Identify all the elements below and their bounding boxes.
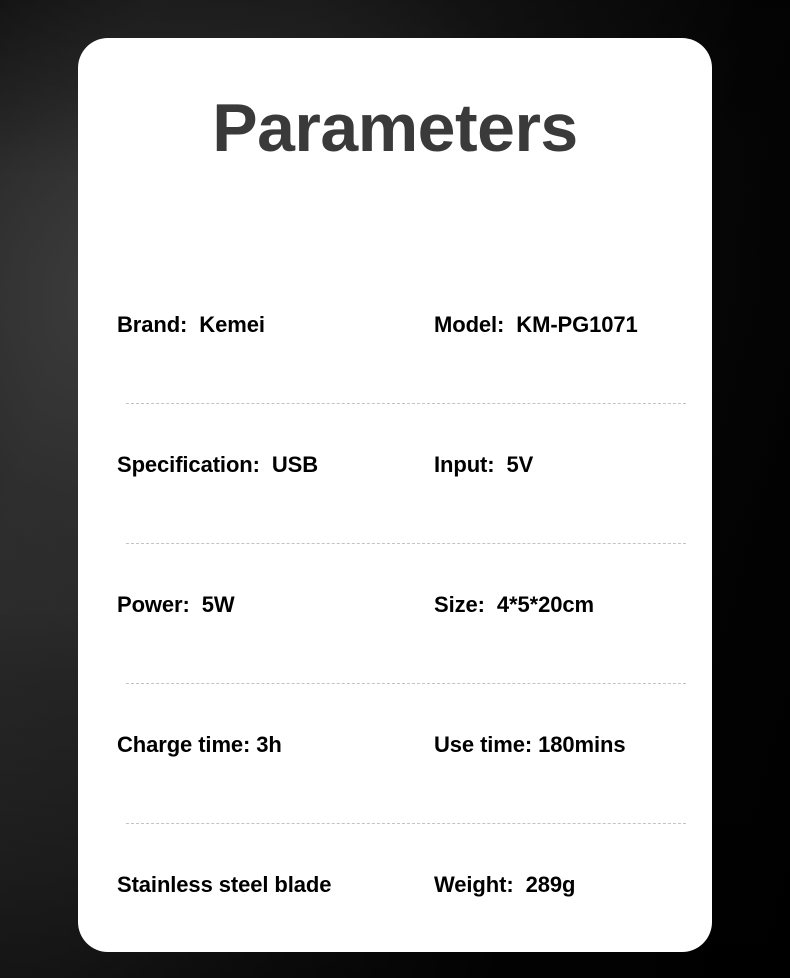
spec-brand: Brand: Kemei xyxy=(117,303,434,347)
spec-row: Charge time: 3h Use time: 180mins xyxy=(117,723,673,863)
spec-model: Model: KM-PG1071 xyxy=(434,303,673,347)
parameters-card: Parameters Brand: Kemei Model: KM-PG1071… xyxy=(78,38,712,952)
row-divider xyxy=(126,683,686,684)
spec-row: Specification: USB Input: 5V xyxy=(117,443,673,583)
spec-weight: Weight: 289g xyxy=(434,863,673,907)
spec-row: Brand: Kemei Model: KM-PG1071 xyxy=(117,303,673,443)
spec-specification: Specification: USB xyxy=(117,443,434,487)
row-divider xyxy=(126,543,686,544)
row-divider xyxy=(126,823,686,824)
spec-power: Power: 5W xyxy=(117,583,434,627)
specification-table: Brand: Kemei Model: KM-PG1071 Specificat… xyxy=(117,303,673,907)
spec-row: Stainless steel blade Weight: 289g xyxy=(117,863,673,907)
spec-charge-time: Charge time: 3h xyxy=(117,723,434,767)
spec-row: Power: 5W Size: 4*5*20cm xyxy=(117,583,673,723)
spec-input: Input: 5V xyxy=(434,443,673,487)
spec-blade-material: Stainless steel blade xyxy=(117,863,434,907)
spec-use-time: Use time: 180mins xyxy=(434,723,673,767)
spec-size: Size: 4*5*20cm xyxy=(434,583,673,627)
row-divider xyxy=(126,403,686,404)
page-title: Parameters xyxy=(78,94,712,162)
